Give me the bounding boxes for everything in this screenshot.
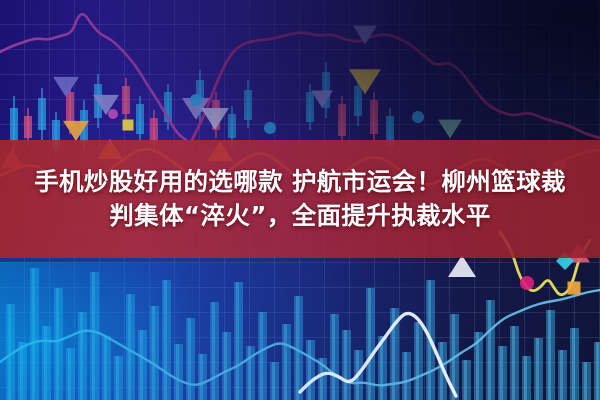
headline-banner: 手机炒股好用的选哪款 护航市运会！柳州篮球裁 判集体“淬火”，全面提升执裁水平	[0, 140, 600, 258]
headline-line-1: 手机炒股好用的选哪款 护航市运会！柳州篮球裁	[34, 168, 566, 196]
stock-banner-image: 手机炒股好用的选哪款 护航市运会！柳州篮球裁 判集体“淬火”，全面提升执裁水平	[0, 0, 600, 400]
headline-line-2: 判集体“淬火”，全面提升执裁水平	[109, 202, 491, 230]
